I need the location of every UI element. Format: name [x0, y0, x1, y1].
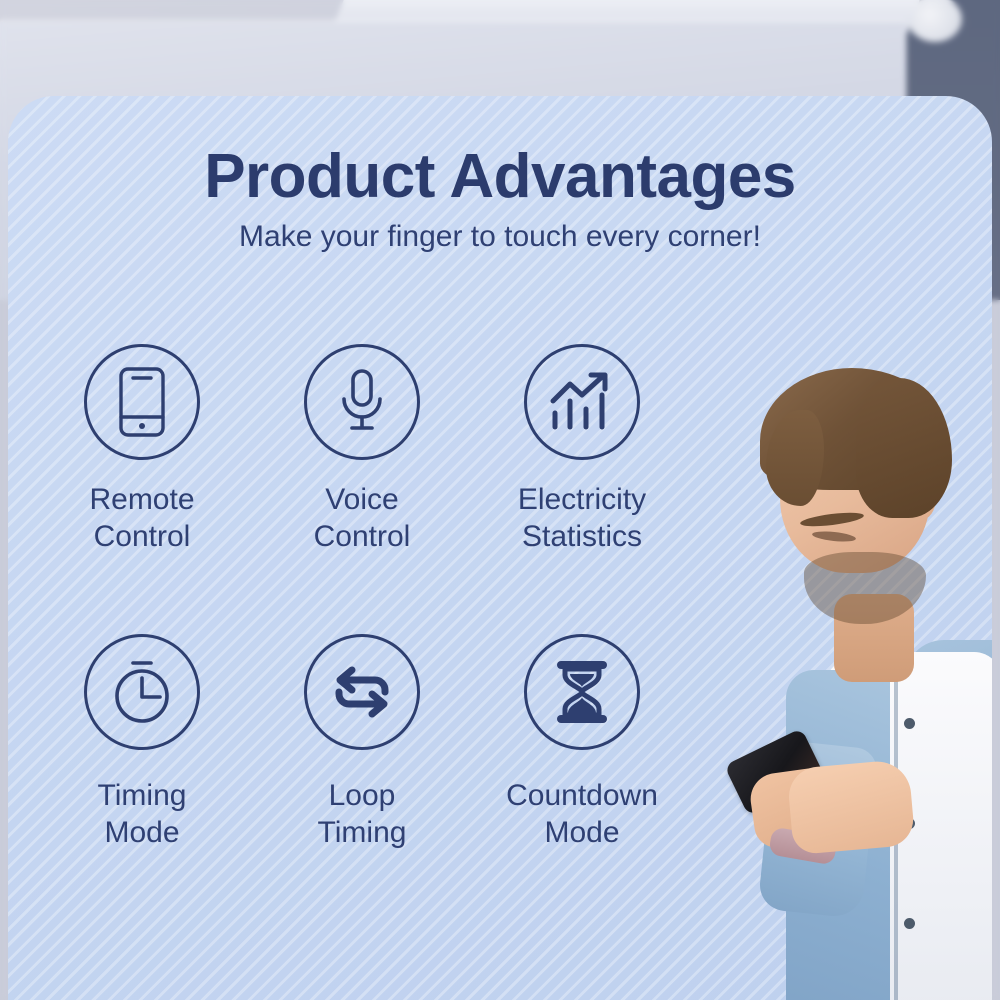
feature-label: Remote Control	[89, 482, 194, 555]
right-hand	[786, 759, 915, 855]
loop-arrows-icon	[304, 634, 420, 750]
hourglass-icon	[524, 634, 640, 750]
feature-countdown-mode[interactable]: Countdown Mode	[472, 634, 692, 924]
feature-voice-control[interactable]: Voice Control	[252, 344, 472, 634]
feature-timing-mode[interactable]: Timing Mode	[32, 634, 252, 924]
advantages-card: Product Advantages Make your finger to t…	[8, 96, 992, 1000]
feature-loop-timing[interactable]: Loop Timing	[252, 634, 472, 924]
shirt-button	[904, 918, 915, 929]
smartphone-icon	[84, 344, 200, 460]
feature-label: Voice Control	[314, 482, 411, 555]
feature-label: Electricity Statistics	[518, 482, 646, 555]
page-subtitle: Make your finger to touch every corner!	[8, 219, 992, 255]
feature-label: Loop Timing	[318, 778, 407, 851]
feature-grid: Remote Control Voice Control	[32, 344, 692, 924]
page-title: Product Advantages	[8, 144, 992, 209]
hair-side	[856, 378, 952, 518]
feature-label: Timing Mode	[98, 778, 187, 851]
feature-label: Countdown Mode	[506, 778, 658, 851]
microphone-icon	[304, 344, 420, 460]
card-heading-block: Product Advantages Make your finger to t…	[8, 144, 992, 255]
infographic-page: и Product Advantages Make your finger to…	[0, 0, 1000, 1000]
stopwatch-icon	[84, 634, 200, 750]
person-photo	[708, 366, 992, 1000]
shirt-button	[904, 718, 915, 729]
bar-chart-up-icon	[524, 344, 640, 460]
feature-electricity-statistics[interactable]: Electricity Statistics	[472, 344, 692, 634]
feature-remote-control[interactable]: Remote Control	[32, 344, 252, 634]
